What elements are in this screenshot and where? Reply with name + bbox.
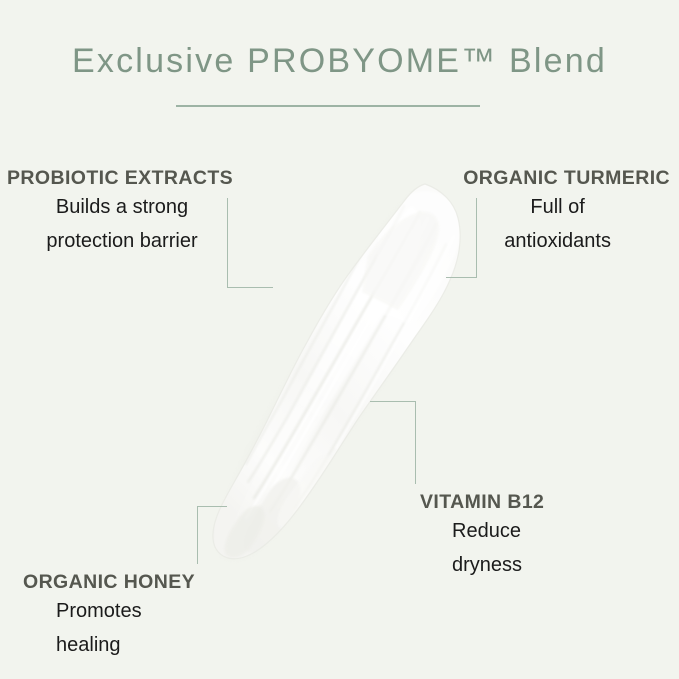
page-title: Exclusive PROBYOME™ Blend — [0, 42, 679, 81]
callout-probiotic-extracts: PROBIOTIC EXTRACTS Builds a strong prote… — [7, 168, 233, 259]
callout-body-line: healing — [56, 628, 195, 662]
callout-body-line: Promotes — [56, 594, 195, 628]
title-divider — [176, 105, 480, 107]
leader-line-organic-honey — [197, 506, 227, 564]
callout-heading-probiotic-extracts: PROBIOTIC EXTRACTS — [7, 168, 233, 190]
callout-body-line: antioxidants — [463, 224, 652, 258]
callout-heading-organic-turmeric: ORGANIC TURMERIC — [463, 168, 670, 190]
leader-line-vitamin-b12 — [370, 401, 416, 484]
callout-vitamin-b12: VITAMIN B12 Reduce dryness — [420, 492, 544, 583]
callout-body-line: Builds a strong — [11, 190, 233, 224]
callout-heading-organic-honey: ORGANIC HONEY — [23, 572, 195, 594]
callout-body-line: dryness — [452, 548, 544, 582]
callout-body-line: protection barrier — [11, 224, 233, 258]
callout-body-line: Full of — [463, 190, 652, 224]
leader-line-probiotic-extracts — [227, 198, 273, 288]
callout-heading-vitamin-b12: VITAMIN B12 — [420, 492, 544, 514]
callout-organic-honey: ORGANIC HONEY Promotes healing — [23, 572, 195, 663]
infographic-canvas: Exclusive PROBYOME™ Blend — [0, 0, 679, 679]
callout-body-line: Reduce — [452, 514, 544, 548]
callout-organic-turmeric: ORGANIC TURMERIC Full of antioxidants — [463, 168, 670, 259]
